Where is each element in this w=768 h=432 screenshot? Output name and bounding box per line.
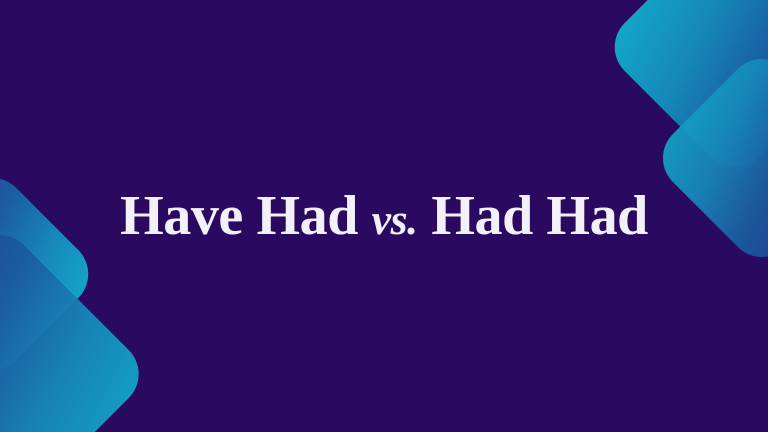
title-container: Have Had vs. Had Had [0, 0, 768, 432]
title-part-two: Had Had [431, 185, 648, 247]
title-part-one: Have Had [120, 185, 358, 247]
page-title: Have Had vs. Had Had [120, 188, 648, 244]
title-card: Have Had vs. Had Had [0, 0, 768, 432]
title-comparator: vs. [372, 196, 418, 244]
